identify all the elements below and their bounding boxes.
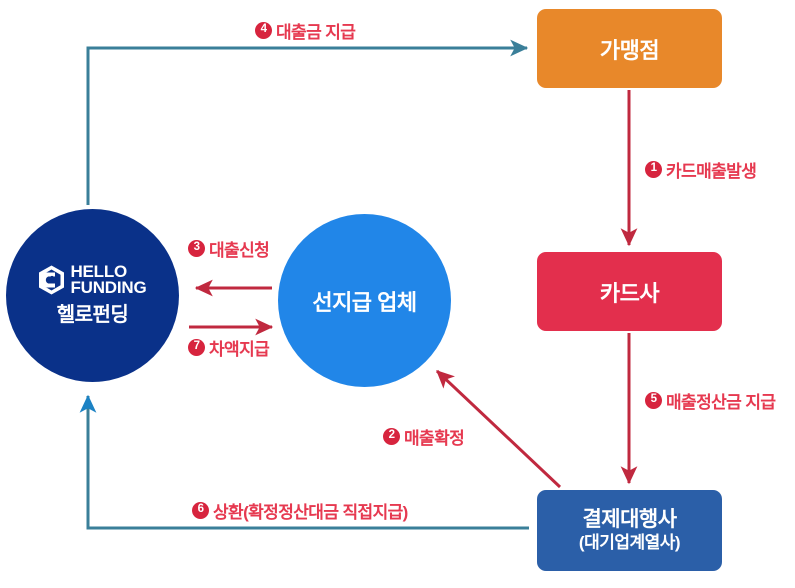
edge-label-3-text: 대출신청 <box>209 236 269 261</box>
node-merchant-label: 가맹점 <box>600 33 659 65</box>
edge-badge-2: 2 <box>383 428 400 445</box>
hello-funding-wordmark-line2: FUNDING <box>70 280 146 296</box>
edge-label-6-text: 상환(확정정산대금 직접지급) <box>213 498 408 523</box>
node-pg-company-sublabel: (대기업계열사) <box>579 533 680 553</box>
edge-label-4: 4 대출금 지급 <box>255 18 355 43</box>
node-hello-funding[interactable]: HELLO FUNDING 헬로펀딩 <box>6 209 179 382</box>
node-card-company-label: 카드사 <box>600 276 659 308</box>
edge-label-1-text: 카드매출발생 <box>666 157 756 182</box>
edge-badge-1: 1 <box>645 161 662 178</box>
node-hello-funding-label: 헬로펀딩 <box>57 298 129 327</box>
hexagon-keyhole-icon <box>38 265 65 295</box>
flow-diagram-canvas: 가맹점 카드사 결제대행사 (대기업계열사) HELLO FUNDING 헬로펀… <box>0 0 795 588</box>
node-card-company[interactable]: 카드사 <box>537 252 722 331</box>
node-pg-company[interactable]: 결제대행사 (대기업계열사) <box>537 490 722 571</box>
node-pg-company-label: 결제대행사 <box>582 508 676 533</box>
edge-label-5: 5 매출정산금 지급 <box>645 388 775 413</box>
edge-badge-4: 4 <box>255 22 272 39</box>
edge-label-3: 3 대출신청 <box>188 236 269 261</box>
edge-label-7: 7 차액지급 <box>188 335 269 360</box>
edge-badge-7: 7 <box>188 339 205 356</box>
hello-funding-wordmark: HELLO FUNDING <box>70 264 146 296</box>
node-prepay-company-label: 선지급 업체 <box>312 285 416 317</box>
edge-label-5-text: 매출정산금 지급 <box>666 388 775 413</box>
edge-badge-6: 6 <box>192 502 209 519</box>
edge-label-4-text: 대출금 지급 <box>276 18 355 43</box>
edge-label-7-text: 차액지급 <box>209 335 269 360</box>
node-prepay-company[interactable]: 선지급 업체 <box>278 214 451 387</box>
node-merchant[interactable]: 가맹점 <box>537 9 722 88</box>
edge-label-6: 6 상환(확정정산대금 직접지급) <box>192 498 408 523</box>
edge-label-2-text: 매출확정 <box>404 424 464 449</box>
edge-badge-3: 3 <box>188 240 205 257</box>
edge-badge-5: 5 <box>645 392 662 409</box>
hello-funding-logo-lockup: HELLO FUNDING <box>38 264 146 296</box>
edge-label-2: 2 매출확정 <box>383 424 464 449</box>
edge-label-1: 1 카드매출발생 <box>645 157 756 182</box>
edge-4-loan-disbursement <box>88 48 527 205</box>
